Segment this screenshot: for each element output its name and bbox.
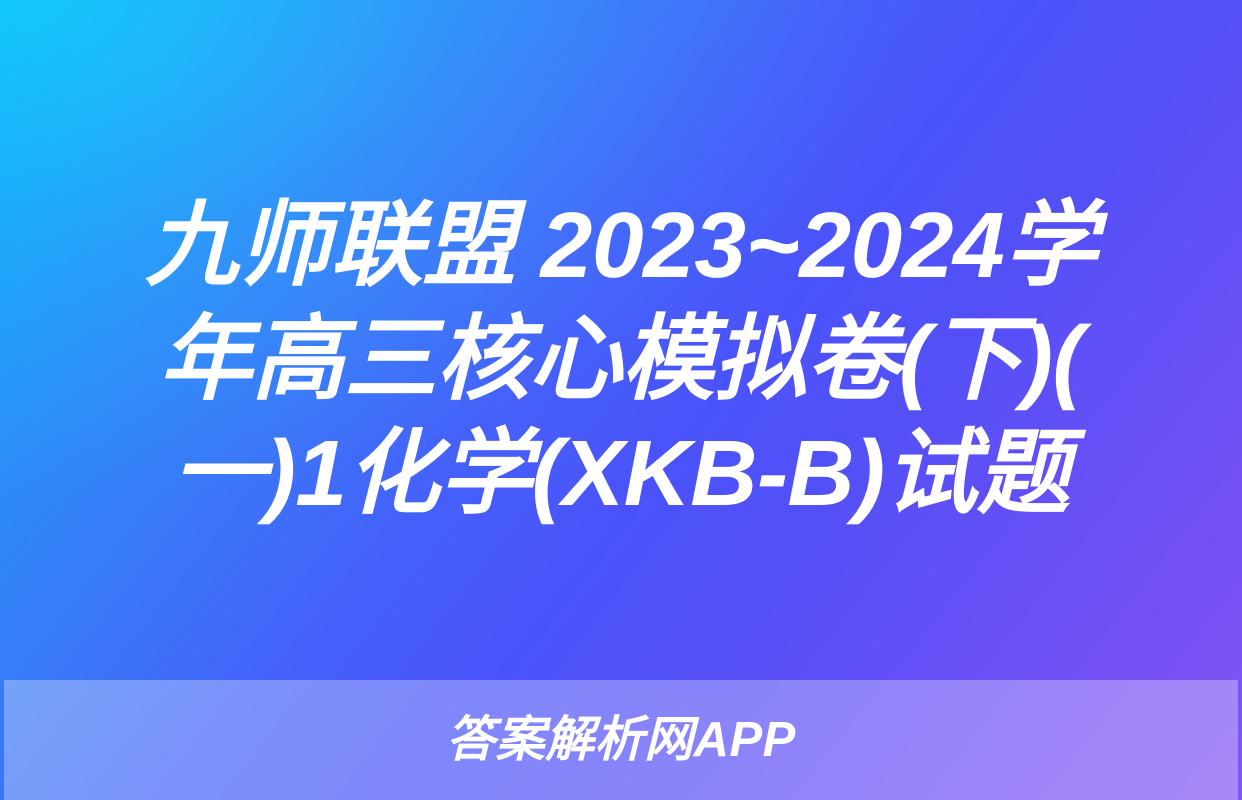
title-line-1: 九师联盟 2023~2024学 <box>26 188 1216 302</box>
exam-paper-cover-poster: 九师联盟 2023~2024学 年高三核心模拟卷(下)( 一)1化学(XKB-B… <box>0 0 1242 800</box>
page-title: 九师联盟 2023~2024学 年高三核心模拟卷(下)( 一)1化学(XKB-B… <box>0 188 1242 530</box>
footer-watermark-band: 答案解析网APP <box>4 680 1238 800</box>
watermark-label: 答案解析网APP <box>446 716 796 765</box>
title-line-3: 一)1化学(XKB-B)试题 <box>26 416 1216 530</box>
title-line-2: 年高三核心模拟卷(下)( <box>26 302 1216 416</box>
